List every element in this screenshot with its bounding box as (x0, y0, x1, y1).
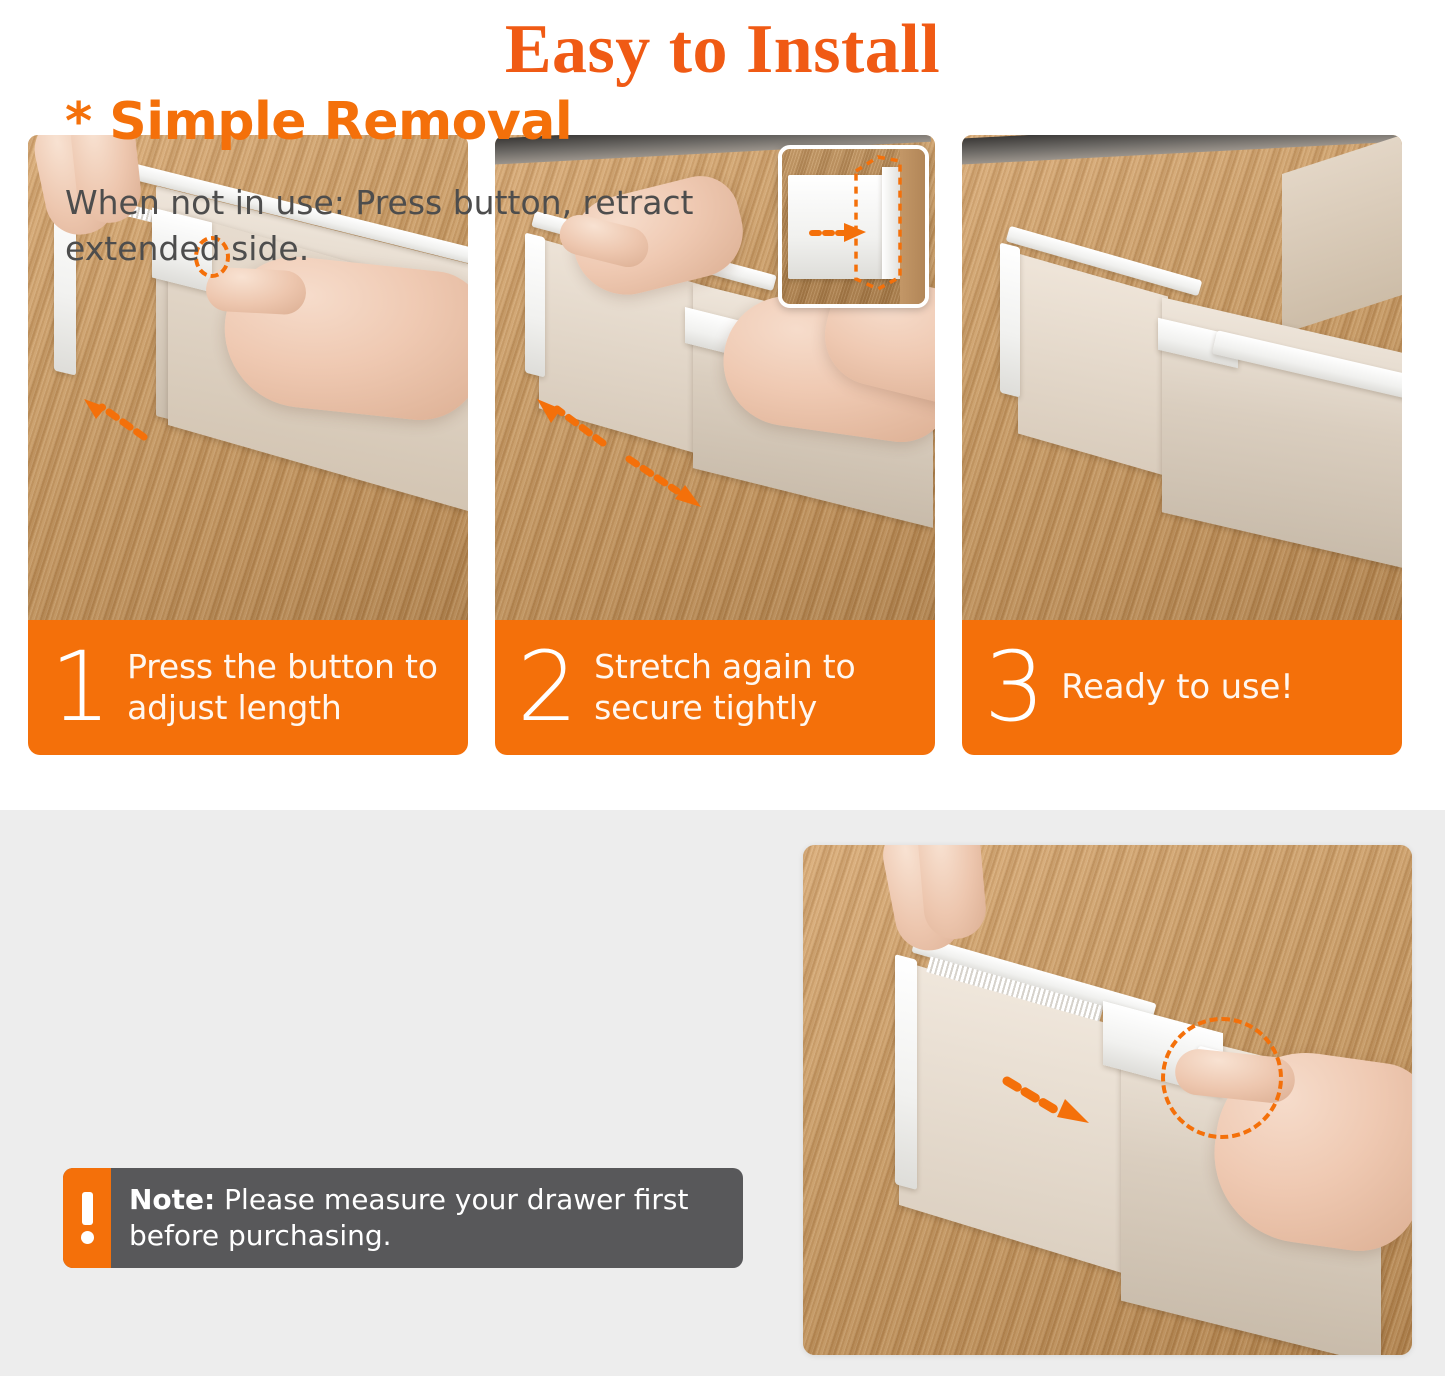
inset-diagram (778, 145, 929, 308)
note-box: Note: Please measure your drawer first b… (63, 1168, 743, 1268)
removal-text-block: * Simple Removal When not in use: Press … (65, 95, 765, 273)
header: Easy to Install (0, 0, 1445, 100)
step-card-3: 3 Ready to use! (962, 135, 1402, 755)
exclamation-glyph (82, 1192, 93, 1244)
divider-end-cap (895, 954, 917, 1190)
dashed-arrow-left-icon (80, 397, 150, 443)
dashed-arrow-down-right-icon (623, 453, 707, 509)
infographic-page: Easy to Install (0, 0, 1445, 1376)
exclamation-icon (63, 1168, 111, 1268)
step-1-number: 1 (50, 643, 111, 731)
removal-body: When not in use: Press button, retract e… (65, 180, 765, 274)
step-3-caption: 3 Ready to use! (962, 620, 1402, 755)
dashed-arrow-up-left-icon (533, 397, 609, 449)
step-3-number: 3 (984, 643, 1045, 731)
step-3-photo (962, 135, 1402, 620)
inset-arrow-right-icon (810, 219, 868, 245)
removal-title: * Simple Removal (65, 95, 765, 150)
step-2-caption: 2 Stretch again to secure tightly (495, 620, 935, 755)
step-1-caption: 1 Press the button to adjust length (28, 620, 468, 755)
note-label: Note: (129, 1183, 215, 1216)
page-title: Easy to Install (505, 15, 940, 85)
removal-photo (803, 845, 1412, 1355)
divider-end-cap (1000, 243, 1020, 398)
solid-arrow-right-icon (1001, 1073, 1093, 1129)
step-3-text: Ready to use! (1061, 667, 1294, 708)
step-2-text: Stretch again to secure tightly (594, 647, 921, 728)
dashed-circle-on-button (1161, 1017, 1283, 1139)
note-text: Note: Please measure your drawer first b… (111, 1168, 743, 1268)
step-1-text: Press the button to adjust length (127, 647, 454, 728)
step-2-number: 2 (517, 643, 578, 731)
